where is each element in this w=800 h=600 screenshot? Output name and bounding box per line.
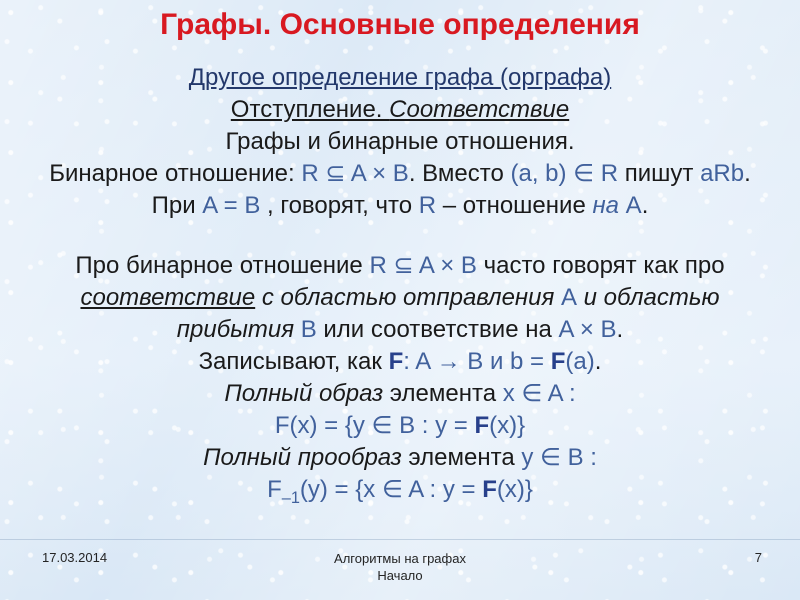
- line7-math1: A: [561, 284, 577, 311]
- heading2-italic: Соответствие: [389, 96, 569, 123]
- heading2-plain: Отступление.: [231, 96, 389, 123]
- line4-part2: . Вместо: [409, 160, 511, 187]
- text-line-12: Полный прообраз элемента y ∈ B :: [0, 442, 800, 474]
- line5-part2: , говорят, что: [260, 192, 418, 219]
- line10-math1: x: [503, 380, 522, 407]
- text-line-7: соответствие с областью отправления A и …: [0, 282, 800, 314]
- line7-italic1: с областью отправления: [255, 284, 561, 311]
- line12-math1: y: [521, 444, 540, 471]
- line5-math2: R: [419, 192, 436, 219]
- line13-math1: F: [267, 476, 282, 503]
- text-line-13-formula: F–1(y) = {x ∈ A : y = F(x)}: [0, 474, 800, 514]
- line9-bold-f-1: F: [389, 348, 404, 375]
- line4-part4: .: [744, 160, 751, 187]
- line4-part3: пишут: [625, 160, 700, 187]
- text-line-6: Про бинарное отношение R ⊆ A × B часто г…: [0, 250, 800, 282]
- line11-math3: (x)}: [489, 412, 525, 439]
- line9-math3: (a): [565, 348, 594, 375]
- line5-math1: A = B: [202, 192, 260, 219]
- line11-bold-f: F: [474, 412, 489, 439]
- line13-math4: (x)}: [497, 476, 533, 503]
- footer-section: Начало: [0, 567, 800, 584]
- slide-canvas: Графы. Основные определения Другое опред…: [0, 0, 800, 600]
- paragraph-gap: [0, 222, 800, 250]
- line10-plain1: элемента: [383, 380, 503, 407]
- footer-subject: Алгоритмы на графах: [0, 550, 800, 567]
- text-line-10: Полный образ элемента x ∈ A :: [0, 378, 800, 410]
- line9-plain1: Записывают, как: [199, 348, 389, 375]
- line9-plain2: .: [595, 348, 602, 375]
- line7-underlined-italic: соответствие: [80, 284, 255, 311]
- slide-body: Другое определение графа (орграфа) Отсту…: [0, 62, 800, 514]
- line9-math1: : A → B и: [403, 348, 510, 375]
- line7-italic2: и областью: [577, 284, 720, 311]
- text-line-4: Бинарное отношение: R ⊆ A × B. Вместо (a…: [0, 158, 800, 190]
- line11-math2: B : y =: [392, 412, 474, 439]
- line13-math3: A : y =: [403, 476, 482, 503]
- line4-math3: (a, b): [510, 160, 573, 187]
- line4-math2: A × B: [345, 160, 408, 187]
- line10-math2: A :: [542, 380, 575, 407]
- footer-divider: [0, 539, 800, 540]
- line8-math1: B: [301, 316, 317, 343]
- line5-math3: A: [619, 192, 642, 219]
- line3-text: Графы и бинарные отношения.: [225, 128, 574, 155]
- footer-page-number: 7: [755, 550, 762, 565]
- line10-italic1: Полный образ: [224, 380, 383, 407]
- line12-plain1: элемента: [402, 444, 522, 471]
- heading2-underline-group: Отступление. Соответствие: [231, 96, 569, 123]
- element-of-symbol: ∈: [573, 160, 594, 187]
- line8-math2: A × B: [558, 316, 616, 343]
- line5-italic-math: на: [592, 192, 619, 219]
- line4-math1: R: [301, 160, 325, 187]
- text-line-3: Графы и бинарные отношения.: [0, 126, 800, 158]
- element-of-symbol-3: ∈: [521, 380, 542, 407]
- line4-part1: Бинарное отношение:: [49, 160, 301, 187]
- element-of-symbol-6: ∈: [382, 476, 403, 503]
- subset-symbol-2: ⊆: [393, 252, 413, 279]
- line6-math2: A × B: [414, 252, 477, 279]
- element-of-symbol-5: ∈: [540, 444, 561, 471]
- line6-part1: Про бинарное отношение: [75, 252, 369, 279]
- line13-subscript: –1: [282, 489, 300, 507]
- text-line-11-formula: F(x) = {y ∈ B : y = F(x)}: [0, 410, 800, 442]
- line6-part2: часто говорят как про: [477, 252, 725, 279]
- slide-footer: 17.03.2014 Алгоритмы на графах Начало 7: [0, 544, 800, 600]
- line12-italic1: Полный прообраз: [203, 444, 402, 471]
- text-line-8: прибытия B или соответствие на A × B.: [0, 314, 800, 346]
- subset-symbol: ⊆: [325, 160, 345, 187]
- line13-bold-f: F: [482, 476, 497, 503]
- page-title: Графы. Основные определения: [0, 8, 800, 42]
- line8-italic1: прибытия: [177, 316, 301, 343]
- text-line-5: При A = B , говорят, что R – отношение н…: [0, 190, 800, 222]
- line8-plain2: .: [617, 316, 624, 343]
- element-of-symbol-4: ∈: [372, 412, 393, 439]
- text-line-heading2: Отступление. Соответствие: [0, 94, 800, 126]
- line8-plain1: или соответствие на: [317, 316, 559, 343]
- line5-part3: – отношение: [436, 192, 592, 219]
- line5-part1: При: [152, 192, 203, 219]
- text-line-heading1: Другое определение графа (орграфа): [0, 62, 800, 94]
- line11-math1: F(x) = {y: [275, 412, 372, 439]
- line4-math4: R: [594, 160, 625, 187]
- line9-bold-f-2: F: [551, 348, 566, 375]
- line12-math2: B :: [561, 444, 597, 471]
- line5-part4: .: [642, 192, 649, 219]
- line4-math5: aRb: [700, 160, 744, 187]
- line9-math2: b =: [510, 348, 551, 375]
- line6-math1: R: [369, 252, 393, 279]
- text-line-9: Записывают, как F: A → B и b = F(a).: [0, 346, 800, 378]
- heading1-text: Другое определение графа (орграфа): [189, 64, 611, 91]
- line13-math2: (y) = {x: [300, 476, 382, 503]
- footer-center: Алгоритмы на графах Начало: [0, 550, 800, 584]
